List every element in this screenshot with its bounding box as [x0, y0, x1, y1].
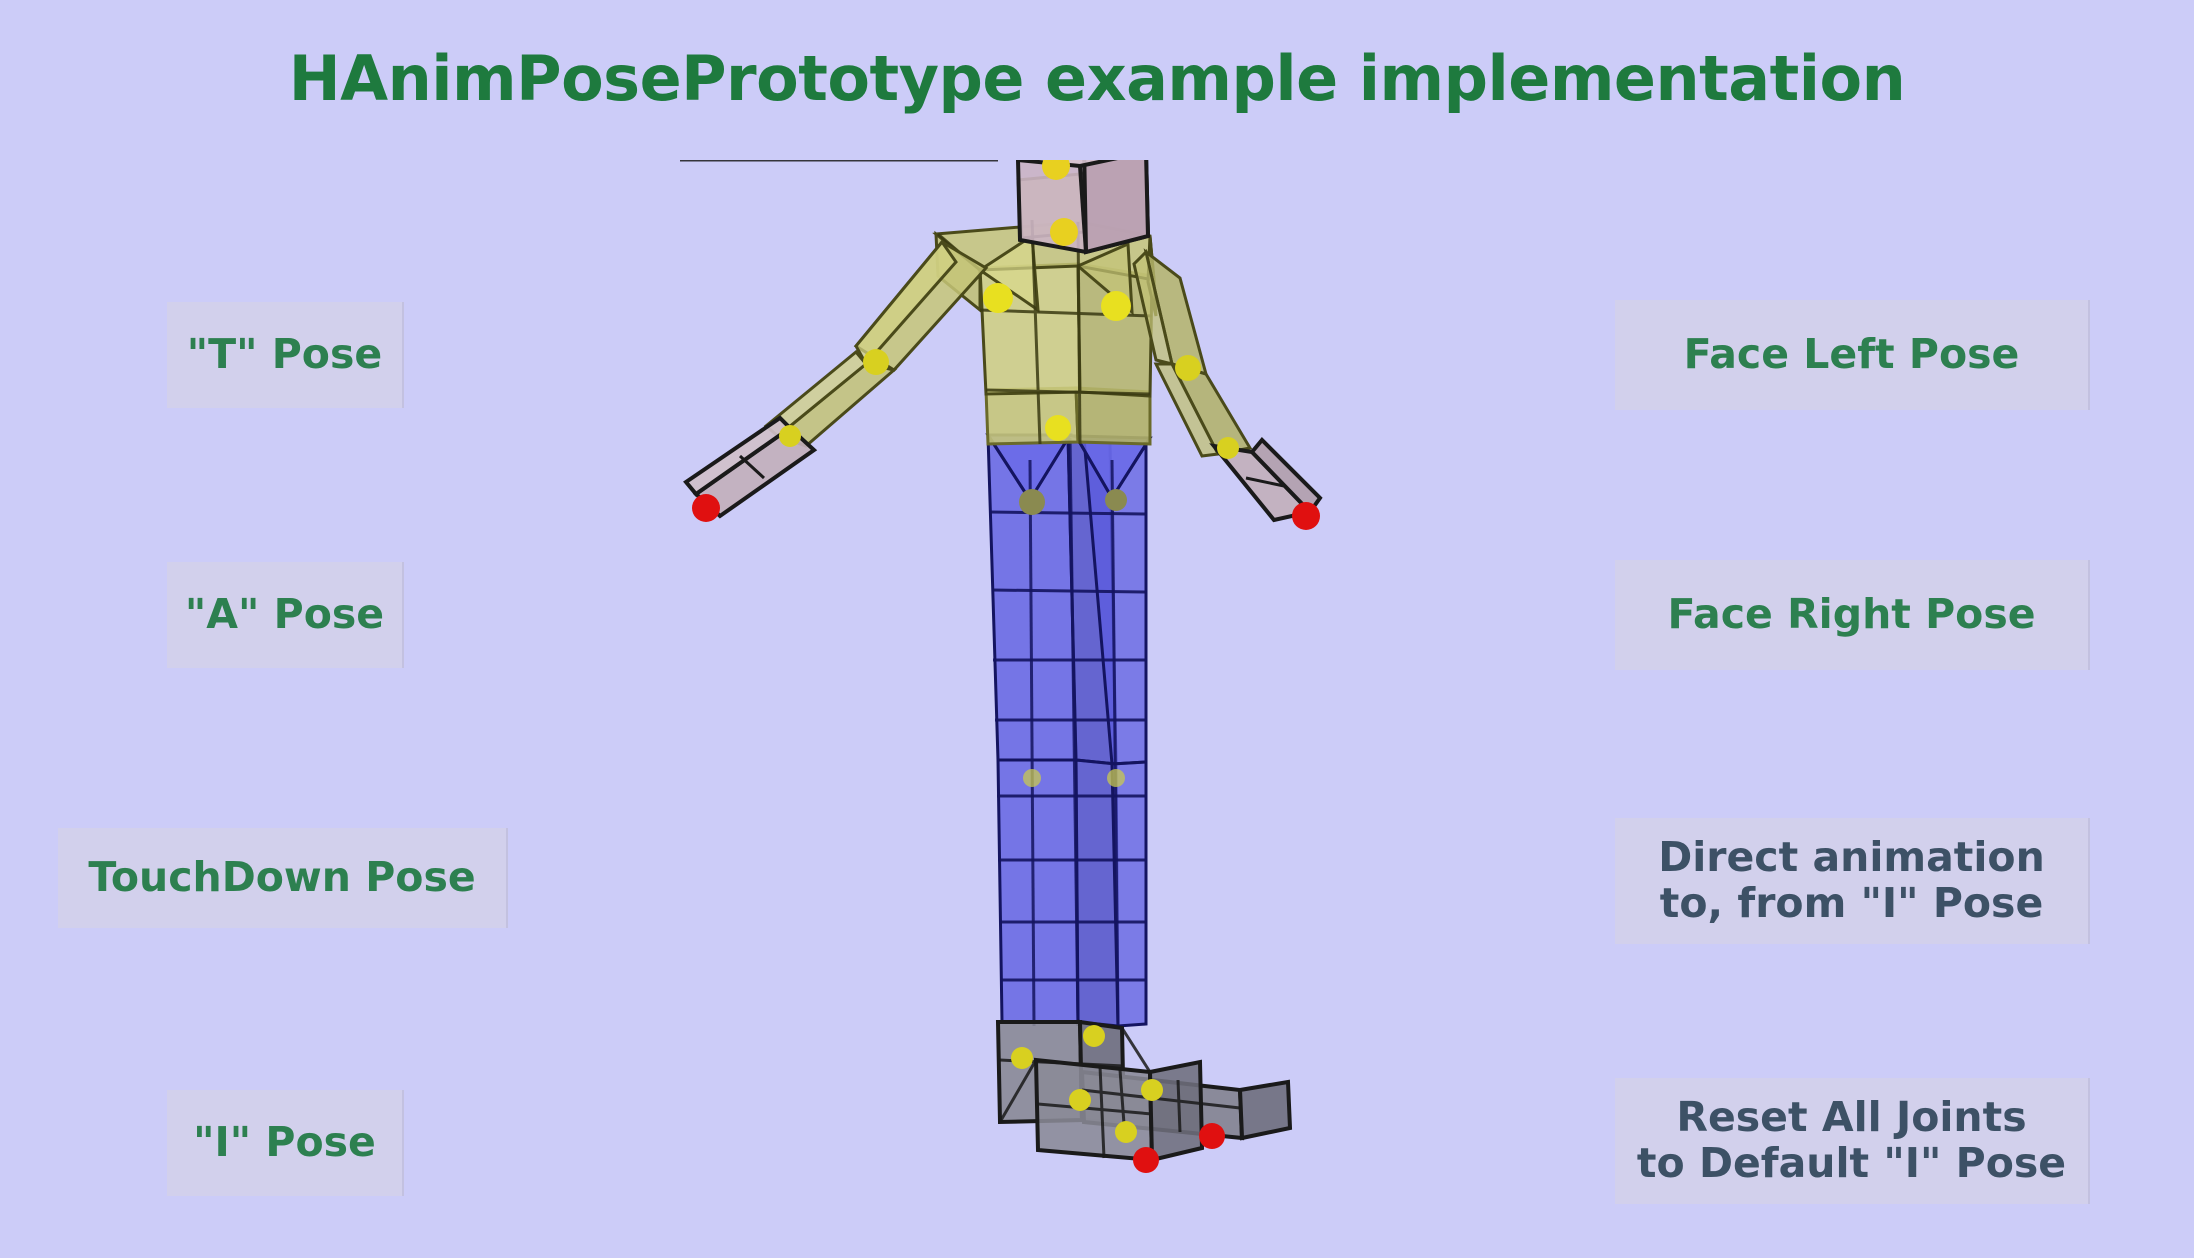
t-pose-button-label: "T" Pose — [187, 332, 382, 378]
touchdown-pose-button-label: TouchDown Pose — [88, 855, 475, 901]
toe-site-marker — [1199, 1123, 1225, 1149]
humanoid-3d-viewport[interactable] — [680, 160, 1380, 1250]
left-arm-group — [686, 242, 986, 522]
touchdown-pose-button[interactable]: TouchDown Pose — [58, 828, 508, 928]
ankle-joint-marker — [1141, 1079, 1163, 1101]
face-right-pose-button-label: Face Right Pose — [1667, 592, 2035, 638]
ankle-joint-marker — [1069, 1089, 1091, 1111]
wrist-joint-marker — [1217, 437, 1239, 459]
right-arm-group — [1134, 252, 1320, 530]
i-pose-button[interactable]: "I" Pose — [167, 1090, 404, 1196]
t-pose-button[interactable]: "T" Pose — [167, 302, 404, 408]
face-right-pose-button[interactable]: Face Right Pose — [1615, 560, 2090, 670]
wrist-joint-marker — [779, 425, 801, 447]
neck-joint-marker — [1050, 218, 1078, 246]
shoulder-joint-marker — [983, 283, 1013, 313]
legs-group — [988, 435, 1150, 1026]
toe-site-marker — [1133, 1147, 1159, 1173]
elbow-joint-marker — [863, 349, 889, 375]
ankle-joint-marker — [1083, 1025, 1105, 1047]
face-left-pose-button[interactable]: Face Left Pose — [1615, 300, 2090, 410]
reset-all-joints-button-label: Reset All Joints to Default "I" Pose — [1637, 1095, 2066, 1187]
hand-site-marker — [692, 494, 720, 522]
hip-joint-marker — [1105, 489, 1127, 511]
a-pose-button[interactable]: "A" Pose — [167, 562, 404, 668]
reset-all-joints-button[interactable]: Reset All Joints to Default "I" Pose — [1615, 1078, 2090, 1204]
waist-joint-marker — [1045, 415, 1071, 441]
page-title: HAnimPosePrototype example implementatio… — [0, 42, 2194, 115]
elbow-joint-marker — [1175, 355, 1201, 381]
i-pose-button-label: "I" Pose — [193, 1120, 376, 1166]
head-group — [1018, 160, 1148, 252]
direct-animation-button-label: Direct animation to, from "I" Pose — [1658, 835, 2045, 927]
a-pose-button-label: "A" Pose — [185, 592, 384, 638]
hand-site-marker — [1292, 502, 1320, 530]
humanoid-figure[interactable] — [680, 160, 1380, 1250]
application-window: HAnimPosePrototype example implementatio… — [0, 0, 2194, 1258]
direct-animation-button[interactable]: Direct animation to, from "I" Pose — [1615, 818, 2090, 944]
shoulder-joint-marker — [1101, 291, 1131, 321]
face-left-pose-button-label: Face Left Pose — [1684, 332, 2020, 378]
hip-joint-marker — [1019, 489, 1045, 515]
toe-joint-marker — [1115, 1121, 1137, 1143]
ankle-joint-marker — [1011, 1047, 1033, 1069]
